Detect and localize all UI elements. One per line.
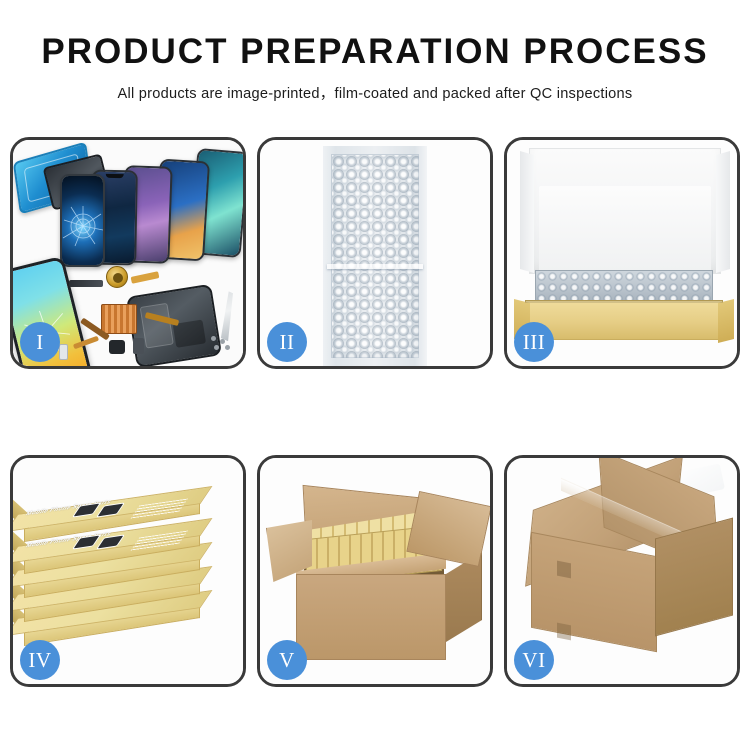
- box-lip-line: [525, 300, 723, 303]
- logic-board: [101, 304, 137, 334]
- step-panel-1: I: [10, 137, 246, 369]
- wrap-seam: [327, 264, 423, 269]
- bubble-wrapped-contents: [535, 270, 713, 302]
- carton-handle-hole-top: [557, 561, 571, 579]
- battery-part: [133, 338, 144, 354]
- process-steps-grid: I II III: [10, 137, 740, 687]
- step-badge-2: II: [267, 322, 307, 362]
- phone-lineup: [27, 146, 243, 274]
- step-badge-6: VI: [514, 640, 554, 680]
- sealed-carton-front: [531, 532, 657, 652]
- step-badge-3: III: [514, 322, 554, 362]
- carton-front: [296, 574, 446, 660]
- step-panel-6: VI: [504, 455, 740, 687]
- step-panel-4: Mobile Phone Spare Parts Mobile Phone Sp…: [10, 455, 246, 687]
- step-panel-2: II: [257, 137, 493, 369]
- speaker-part: [59, 344, 68, 360]
- bubble-wrapped-product: [323, 146, 427, 366]
- sealed-carton-side: [655, 518, 733, 637]
- charging-coil: [106, 266, 128, 288]
- phone-front-glass: [60, 174, 105, 267]
- step-badge-1: I: [20, 322, 60, 362]
- bubble-grid: [331, 154, 419, 358]
- earpiece-strip: [69, 280, 103, 287]
- step-panel-5: V: [257, 455, 493, 687]
- page-subtitle: All products are image-printed，film-coat…: [0, 82, 750, 103]
- foam-sheet: [539, 186, 711, 272]
- page-header: PRODUCT PREPARATION PROCESS All products…: [0, 0, 750, 103]
- screws-group: [211, 336, 233, 350]
- step-badge-5: V: [267, 640, 307, 680]
- cracked-glass-icon: [61, 204, 105, 248]
- step-badge-4: IV: [20, 640, 60, 680]
- camera-module: [109, 340, 125, 354]
- page-title: PRODUCT PREPARATION PROCESS: [0, 34, 750, 71]
- yellow-box-base: [525, 300, 723, 340]
- step-panel-3: III: [504, 137, 740, 369]
- carton-handle-hole-bottom: [557, 623, 571, 641]
